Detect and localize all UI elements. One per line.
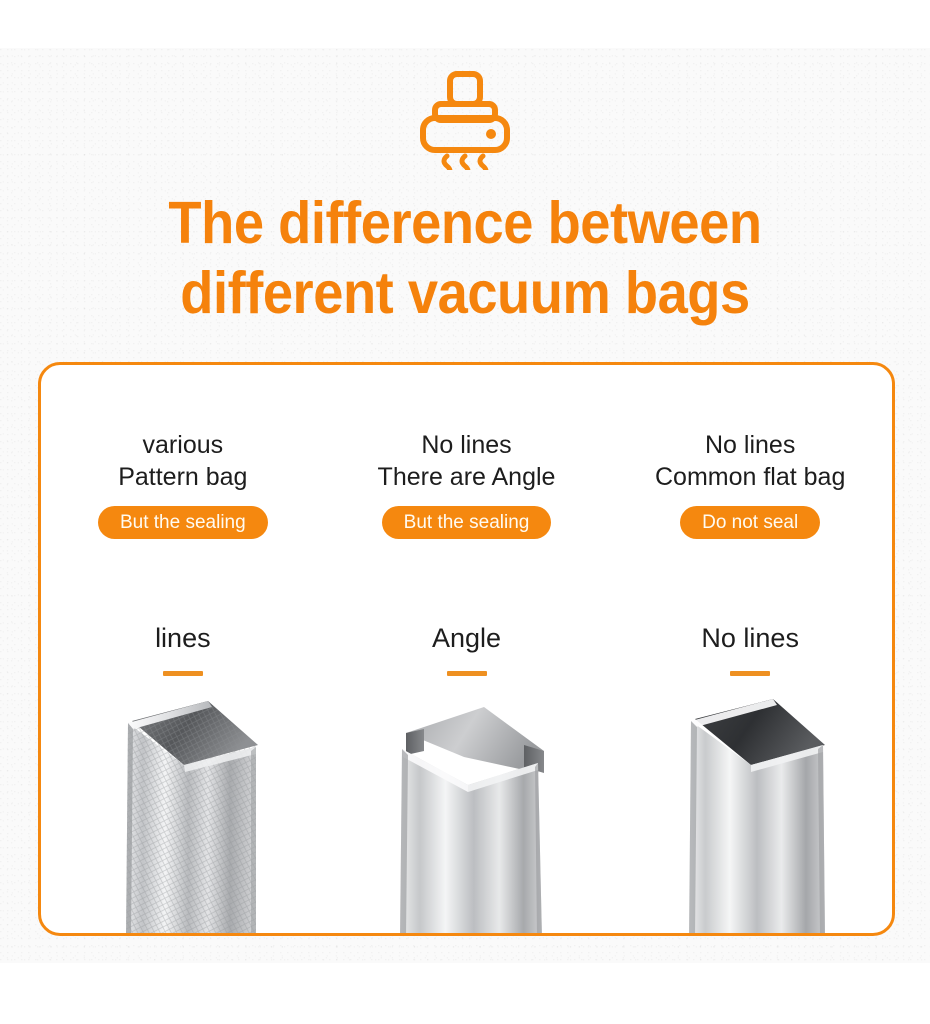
bottom-white-strip (0, 963, 930, 1024)
feature-label: lines (155, 623, 211, 653)
column-caption: No lines There are Angle (378, 429, 556, 493)
plain-flat-vacuum-bag-image (655, 693, 845, 933)
page-title-line-2: different vacuum bags (37, 258, 893, 328)
caption-line-2: There are Angle (378, 461, 556, 493)
feature-underline (447, 671, 487, 676)
bag-image-row (41, 693, 892, 933)
status-badge: But the sealing (98, 506, 268, 539)
caption-line-2: Pattern bag (118, 461, 247, 493)
comparison-card: various Pattern bag But the sealing line… (38, 362, 895, 936)
gusseted-angle-vacuum-bag-image (372, 693, 562, 933)
status-badge: Do not seal (680, 506, 820, 539)
feature-label: Angle (432, 623, 501, 653)
page-title: The difference between different vacuum … (0, 188, 930, 328)
feature-underline (730, 671, 770, 676)
header-icon-container (0, 70, 930, 175)
bag-image-cell (325, 693, 609, 933)
caption-line-1: various (118, 429, 247, 461)
feature-label: No lines (701, 623, 799, 653)
caption-line-1: No lines (378, 429, 556, 461)
vacuum-sealer-icon (413, 70, 517, 175)
embossed-pattern-vacuum-bag-image (88, 693, 278, 933)
feature-underline (163, 671, 203, 676)
page-title-line-1: The difference between (37, 188, 893, 258)
bag-image-cell (41, 693, 325, 933)
product-comparison-page: The difference between different vacuum … (0, 0, 930, 1024)
caption-line-2: Common flat bag (655, 461, 845, 493)
column-caption: various Pattern bag (118, 429, 247, 493)
status-badge: But the sealing (382, 506, 552, 539)
bag-image-cell (608, 693, 892, 933)
caption-line-1: No lines (655, 429, 845, 461)
column-caption: No lines Common flat bag (655, 429, 845, 493)
